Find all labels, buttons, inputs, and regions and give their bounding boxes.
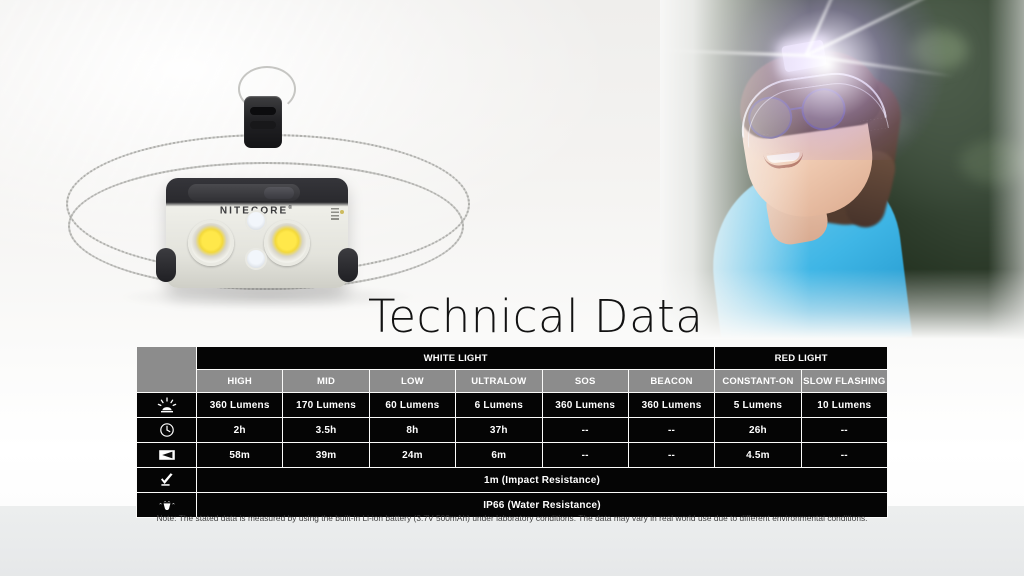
- cell-distance-slow-flashing: --: [802, 443, 887, 467]
- cell-distance-low: 24m: [370, 443, 455, 467]
- cell-lumens-low: 60 Lumens: [370, 393, 455, 417]
- lamp-arm-left: [156, 248, 176, 282]
- technical-data-table: WHITE LIGHT RED LIGHT HIGH MID LOW ULTRA…: [136, 346, 888, 518]
- cell-distance-beacon: --: [629, 443, 714, 467]
- cell-distance-constant-on: 4.5m: [715, 443, 800, 467]
- lamp-arm-right: [338, 248, 358, 282]
- cell-lumens-constant-on: 5 Lumens: [715, 393, 800, 417]
- cell-runtime-mid: 3.5h: [283, 418, 368, 442]
- table-group-header-row: WHITE LIGHT RED LIGHT: [137, 347, 887, 369]
- cell-lumens-beacon: 360 Lumens: [629, 393, 714, 417]
- cell-lumens-mid: 170 Lumens: [283, 393, 368, 417]
- group-header-red-light: RED LIGHT: [715, 347, 887, 369]
- cell-distance-mid: 39m: [283, 443, 368, 467]
- page-title: Technical Data: [368, 294, 703, 339]
- cell-runtime-beacon: --: [629, 418, 714, 442]
- aux-led-bottom: [245, 248, 267, 270]
- table-row-runtime: 2h 3.5h 8h 37h -- -- 26h --: [137, 418, 887, 442]
- cell-distance-high: 58m: [197, 443, 282, 467]
- cell-lumens-high: 360 Lumens: [197, 393, 282, 417]
- beam-distance-icon: [137, 443, 196, 467]
- main-led-left: [188, 220, 234, 266]
- mode-header-low: LOW: [370, 370, 455, 392]
- mode-header-beacon: BEACON: [629, 370, 714, 392]
- cell-impact-resistance-value: 1m (Impact Resistance): [197, 468, 887, 492]
- product-spec-page: NITECORE® Technical Data WHITE LIGHT RED: [0, 0, 1024, 576]
- table-row-impact-resistance: 1m (Impact Resistance): [137, 468, 887, 492]
- cell-lumens-sos: 360 Lumens: [543, 393, 628, 417]
- main-led-right: [264, 220, 310, 266]
- lamp-housing: NITECORE®: [166, 178, 348, 288]
- cell-distance-ultralow: 6m: [456, 443, 541, 467]
- mode-header-constant-on: CONSTANT-ON: [715, 370, 800, 392]
- cell-runtime-constant-on: 26h: [715, 418, 800, 442]
- mode-header-slow-flashing: SLOW FLASHING: [802, 370, 887, 392]
- headband-buckle: [244, 96, 282, 148]
- cell-runtime-low: 8h: [370, 418, 455, 442]
- lamp-power-button: [264, 187, 294, 199]
- table-row-lumens: 360 Lumens 170 Lumens 60 Lumens 6 Lumens…: [137, 393, 887, 417]
- cell-runtime-sos: --: [543, 418, 628, 442]
- lumens-icon: [137, 393, 196, 417]
- lamp-led-array: [178, 208, 336, 274]
- headlamp-product-image: NITECORE®: [58, 58, 498, 318]
- table-row-beam-distance: 58m 39m 24m 6m -- -- 4.5m --: [137, 443, 887, 467]
- photo-edge-fade-bottom: [660, 269, 1024, 339]
- table-mode-header-row: HIGH MID LOW ULTRALOW SOS BEACON CONSTAN…: [137, 370, 887, 392]
- cell-distance-sos: --: [543, 443, 628, 467]
- group-header-white-light: WHITE LIGHT: [197, 347, 714, 369]
- footnote-text: Note: The stated data is measured by usi…: [136, 512, 888, 524]
- cell-runtime-ultralow: 37h: [456, 418, 541, 442]
- mode-header-ultralow: ULTRALOW: [456, 370, 541, 392]
- photo-bokeh-leaf: [910, 30, 968, 70]
- runtime-clock-icon: [137, 418, 196, 442]
- cell-runtime-slow-flashing: --: [802, 418, 887, 442]
- mode-header-high: HIGH: [197, 370, 282, 392]
- photo-edge-fade-right: [988, 0, 1024, 339]
- table-corner-cell: [137, 347, 196, 392]
- mode-header-mid: MID: [283, 370, 368, 392]
- cell-lumens-slow-flashing: 10 Lumens: [802, 393, 887, 417]
- impact-resistance-icon: [137, 468, 196, 492]
- cell-lumens-ultralow: 6 Lumens: [456, 393, 541, 417]
- cell-runtime-high: 2h: [197, 418, 282, 442]
- mode-header-sos: SOS: [543, 370, 628, 392]
- aux-led-top: [245, 210, 267, 232]
- lifestyle-photo-woman-wearing-headlamp: [660, 0, 1024, 339]
